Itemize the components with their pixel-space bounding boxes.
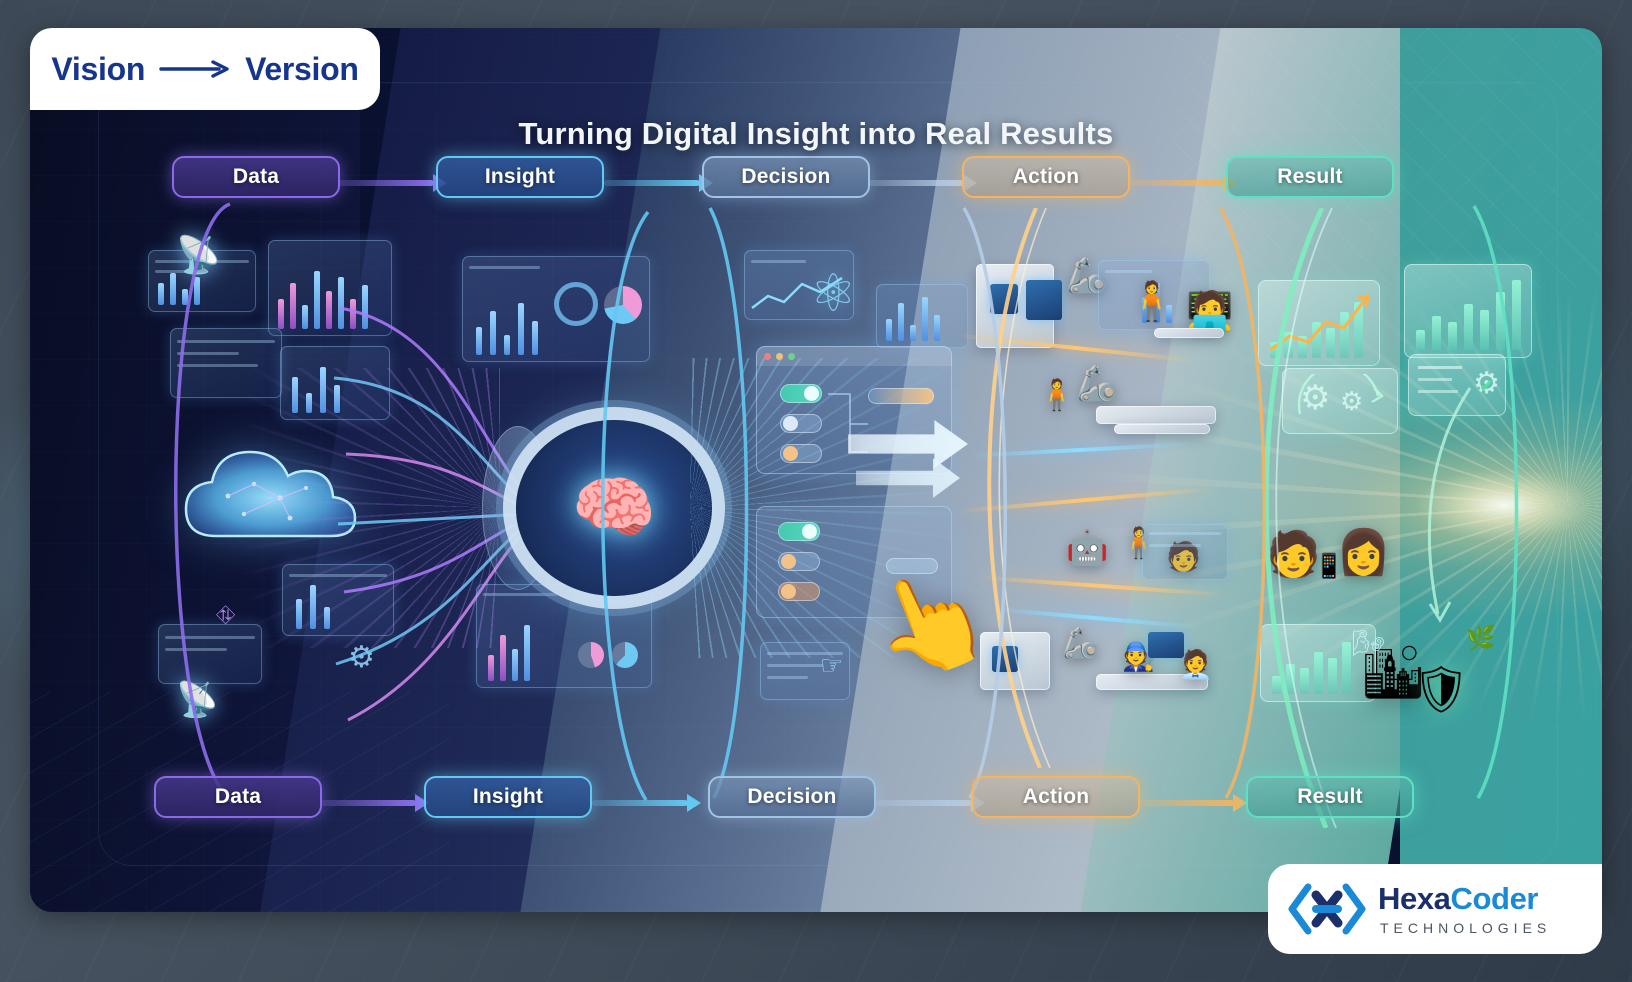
hexacoder-logo: HexaCoder TECHNOLOGIES [1268, 864, 1602, 954]
connector-decision-action-bottom [876, 800, 972, 806]
pill-bottom-decision[interactable]: Decision [708, 776, 876, 818]
page-title: Turning Digital Insight into Real Result… [30, 116, 1602, 152]
logo-company-name: HexaCoder [1378, 883, 1551, 914]
connector-action-result-top [1128, 180, 1224, 186]
connector-insight-decision-top [604, 180, 700, 186]
connector-data-insight-top [338, 180, 434, 186]
connector-decision-action-top [868, 180, 964, 186]
pill-top-decision[interactable]: Decision [702, 156, 870, 198]
pill-bottom-data[interactable]: Data [154, 776, 322, 818]
logo-name-secondary: Coder [1451, 881, 1539, 916]
logo-subtitle: TECHNOLOGIES [1378, 921, 1551, 935]
logo-name-primary: Hexa [1378, 881, 1451, 916]
logo-text-block: HexaCoder TECHNOLOGIES [1378, 883, 1551, 935]
long-right-arrow-icon [159, 59, 231, 79]
badge-vision-label: Vision [51, 51, 145, 88]
pill-top-data[interactable]: Data [172, 156, 340, 198]
connector-insight-decision-bottom [592, 800, 688, 806]
infographic-card: 📡 📡 ⚙ ⛗ [30, 28, 1602, 912]
pill-bottom-result[interactable]: Result [1246, 776, 1414, 818]
connector-data-insight-bottom [320, 800, 416, 806]
vision-version-badge: Vision Version [30, 28, 380, 110]
connector-action-result-bottom [1138, 800, 1234, 806]
pill-top-insight[interactable]: Insight [436, 156, 604, 198]
pill-top-action[interactable]: Action [962, 156, 1130, 198]
pill-bottom-insight[interactable]: Insight [424, 776, 592, 818]
badge-version-label: Version [245, 51, 359, 88]
pill-bottom-action[interactable]: Action [972, 776, 1140, 818]
hexacoder-hexagon-mark [1288, 883, 1366, 935]
pill-top-result[interactable]: Result [1226, 156, 1394, 198]
pipeline-curves [118, 168, 1538, 848]
